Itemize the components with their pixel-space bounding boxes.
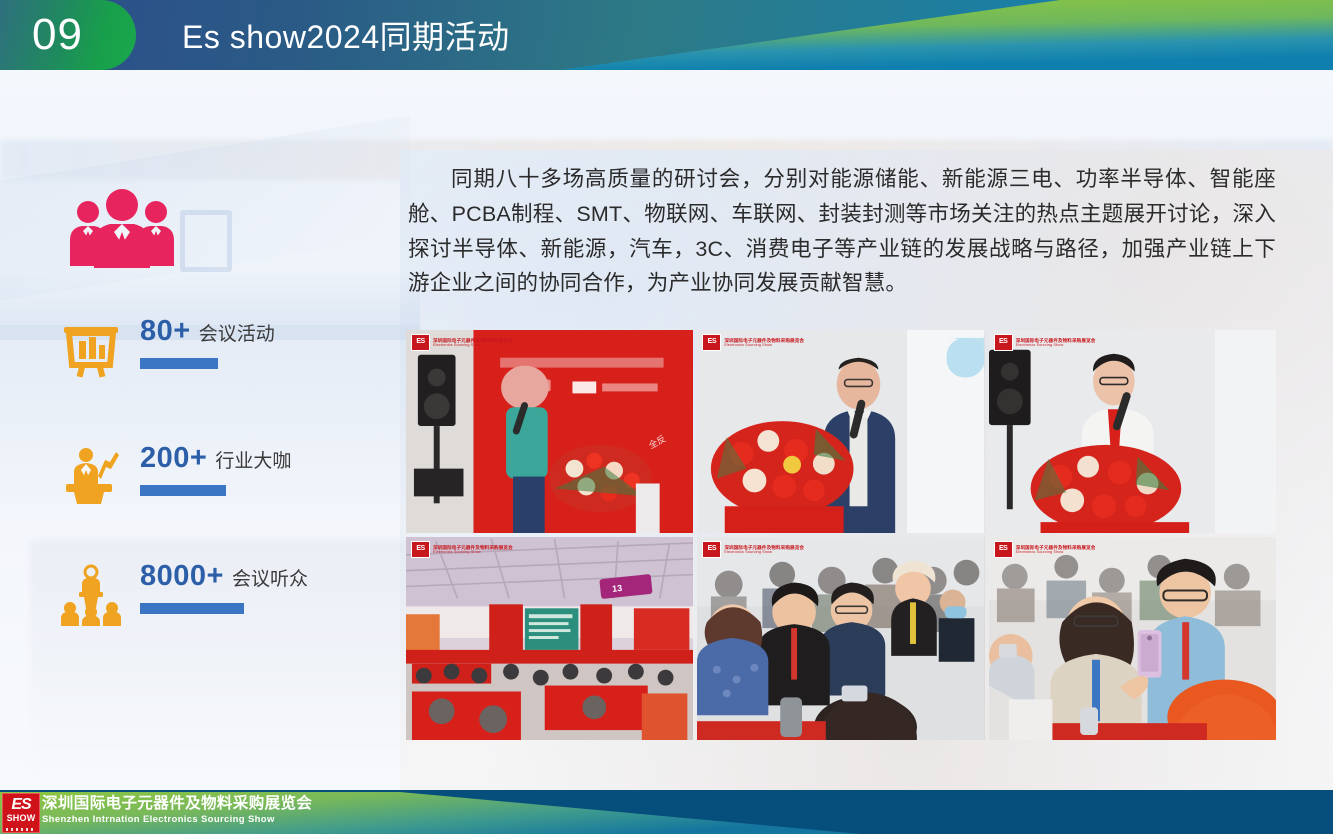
photo-audience-phone[interactable]: ES 深圳国际电子元器件及物料采购展览会 Electronics Sourcin… [989, 537, 1276, 740]
footer-title-en: Shenzhen Intrnation Electronics Sourcing… [42, 813, 312, 826]
es-mark: ES [411, 541, 430, 558]
photo-watermark-badge: ES 深圳国际电子元器件及物料采购展览会 Electronics Sourcin… [702, 541, 804, 558]
badge-text: 深圳国际电子元器件及物料采购展览会 Electronics Sourcing S… [724, 338, 804, 348]
photo-speaker-white-shirt[interactable]: ES 深圳国际电子元器件及物料采购展览会 Electronics Sourcin… [989, 330, 1276, 533]
es-mark: ES [702, 541, 721, 558]
photo-audience-listening[interactable]: ES 深圳国际电子元器件及物料采购展览会 Electronics Sourcin… [697, 537, 984, 740]
badge-en: Electronics Sourcing Show [724, 550, 804, 554]
es-mark: ES [994, 334, 1013, 351]
photo-conference-hall[interactable]: 13 [406, 537, 693, 740]
stat-body: 80+ 会议活动 [140, 315, 275, 369]
photo-watermark-badge: ES 深圳国际电子元器件及物料采购展览会 Electronics Sourcin… [411, 334, 513, 351]
stat-label: 行业大咖 [215, 446, 291, 473]
stat-item-speakers: 200+ 行业大咖 [40, 442, 390, 538]
stat-number: 8000+ [140, 560, 224, 593]
slide-root: 09 Es show2024同期活动 [0, 0, 1333, 834]
badge-text: 深圳国际电子元器件及物料采购展览会 Electronics Sourcing S… [433, 338, 513, 348]
stat-number: 80+ [140, 315, 191, 348]
stat-item-meetings: 80+ 会议活动 [40, 315, 390, 411]
stat-line: 80+ 会议活动 [140, 315, 275, 348]
badge-text: 深圳国际电子元器件及物料采购展览会 Electronics Sourcing S… [724, 545, 804, 555]
photo-watermark-badge: ES 深圳国际电子元器件及物料采购展览会 Electronics Sourcin… [994, 541, 1096, 558]
stat-accent-bar [140, 358, 218, 369]
stat-label: 会议听众 [232, 564, 308, 591]
stat-body: 200+ 行业大咖 [140, 442, 291, 496]
badge-text: 深圳国际电子元器件及物料采购展览会 Electronics Sourcing S… [1016, 545, 1096, 555]
photo-watermark-badge: ES 深圳国际电子元器件及物料采购展览会 Electronics Sourcin… [702, 334, 804, 351]
stats-sidebar: 80+ 会议活动 [0, 70, 400, 790]
es-mark: ES [994, 541, 1013, 558]
stat-number: 200+ [140, 442, 207, 475]
speaker-podium-icon [60, 446, 122, 508]
photo-speaker-navy-blazer[interactable]: ES 深圳国际电子元器件及物料采购展览会 Electronics Sourcin… [697, 330, 984, 533]
es-mark: ES [411, 334, 430, 351]
stat-accent-bar [140, 485, 226, 496]
slide-header: 09 Es show2024同期活动 [0, 0, 1333, 70]
presentation-board-icon [60, 319, 122, 381]
stat-line: 200+ 行业大咖 [140, 442, 291, 475]
body-paragraph: 同期八十多场高质量的研讨会，分别对能源储能、新能源三电、功率半导体、智能座舱、P… [408, 162, 1276, 301]
photo-watermark-badge: ES 深圳国际电子元器件及物料采购展览会 Electronics Sourcin… [411, 541, 513, 558]
stat-body: 8000+ 会议听众 [140, 560, 308, 614]
badge-en: Electronics Sourcing Show [433, 343, 513, 347]
people-group-icon [66, 188, 178, 270]
svg-text:13: 13 [612, 583, 623, 594]
footer-title-cn: 深圳国际电子元器件及物料采购展览会 [42, 794, 312, 813]
section-number: 09 [32, 13, 83, 57]
stat-accent-bar [140, 603, 244, 614]
slide-footer: ES SHOW 深圳国际电子元器件及物料采购展览会 Shenzhen Intrn… [0, 790, 1333, 834]
photo-speaker-red-backdrop[interactable]: 全反 ES 深圳国际电子元器件及物料采购展览会 Electronics Sour… [406, 330, 693, 533]
photo-gallery: 全反 ES 深圳国际电子元器件及物料采购展览会 Electronics Sour… [406, 330, 1276, 740]
badge-en: Electronics Sourcing Show [724, 343, 804, 347]
photo-watermark-badge: ES 深圳国际电子元器件及物料采购展览会 Electronics Sourcin… [994, 334, 1096, 351]
es-show-logo: ES SHOW [2, 793, 40, 833]
footer-brand-text: 深圳国际电子元器件及物料采购展览会 Shenzhen Intrnation El… [42, 794, 312, 826]
stat-item-audience: 8000+ 会议听众 [40, 560, 390, 656]
badge-text: 深圳国际电子元器件及物料采购展览会 Electronics Sourcing S… [433, 545, 513, 555]
badge-text: 深圳国际电子元器件及物料采购展览会 Electronics Sourcing S… [1016, 338, 1096, 348]
logo-dots [6, 828, 36, 831]
stat-line: 8000+ 会议听众 [140, 560, 308, 593]
es-mark: ES [702, 334, 721, 351]
badge-en: Electronics Sourcing Show [1016, 550, 1096, 554]
audience-podium-icon [60, 564, 122, 626]
page-title: Es show2024同期活动 [182, 12, 510, 58]
stat-label: 会议活动 [199, 319, 275, 346]
logo-show-text: SHOW [3, 813, 39, 824]
badge-en: Electronics Sourcing Show [433, 550, 513, 554]
logo-es-text: ES [3, 795, 39, 814]
badge-en: Electronics Sourcing Show [1016, 343, 1096, 347]
